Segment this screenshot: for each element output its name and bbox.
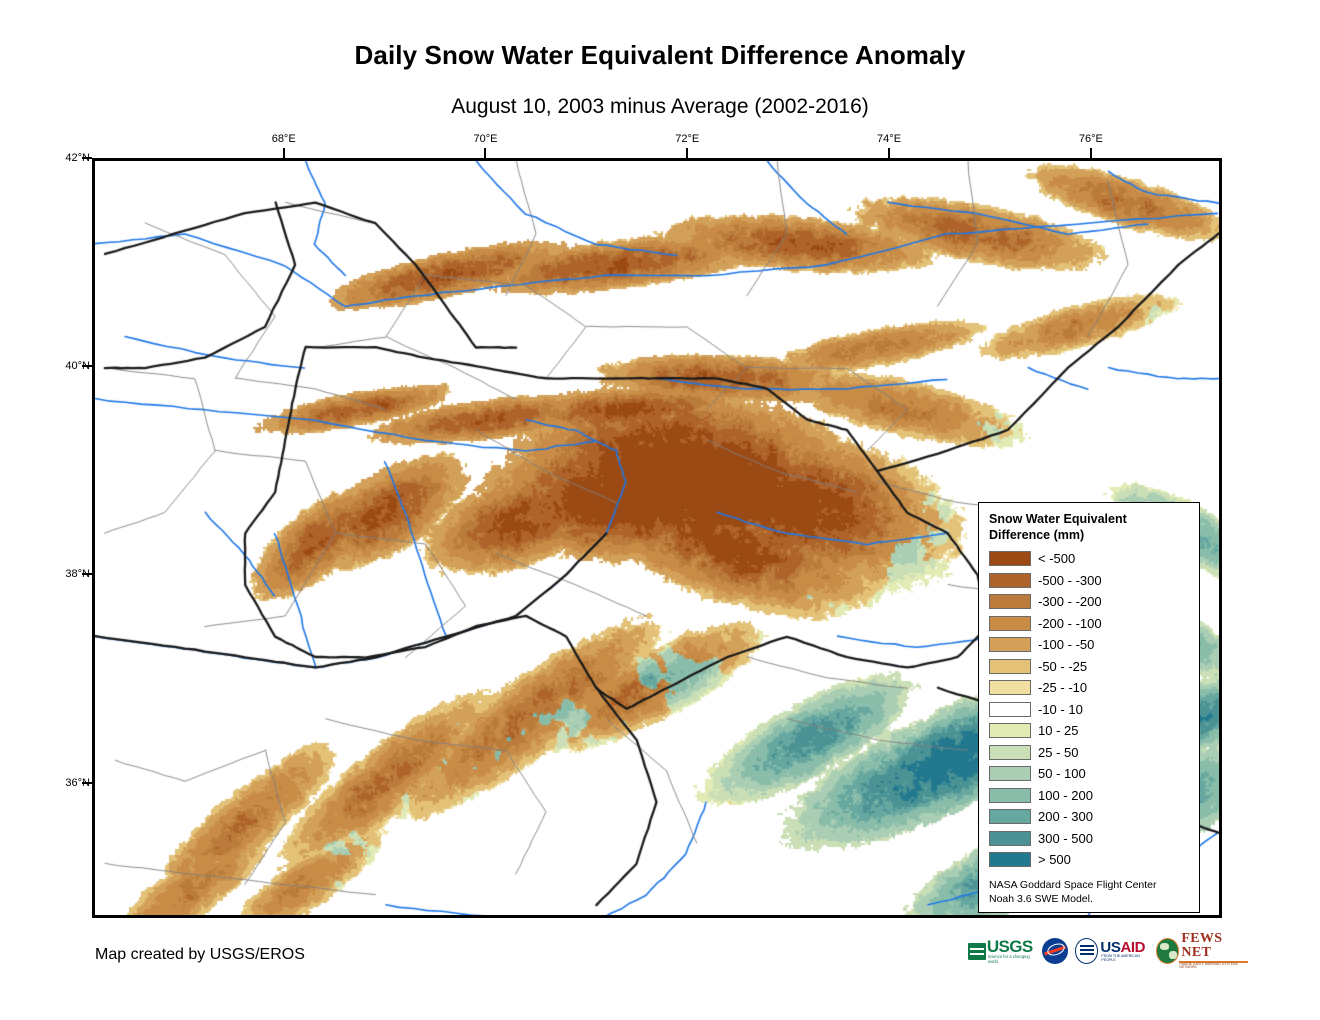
- map-credit: Map created by USGS/EROS: [95, 946, 305, 964]
- legend-row: 10 - 25: [989, 720, 1191, 742]
- legend-swatch: [989, 680, 1031, 695]
- legend-attribution-line2: Noah 3.6 SWE Model.: [989, 892, 1191, 906]
- legend-label: -200 - -100: [1038, 617, 1102, 630]
- usgs-wave-icon: [968, 943, 986, 960]
- legend-label: -10 - 10: [1038, 703, 1083, 716]
- legend-class-list: < -500-500 - -300-300 - -200-200 - -100-…: [989, 548, 1191, 871]
- lon-label: 68°E: [272, 133, 296, 145]
- usgs-wordmark: USGS: [987, 938, 1035, 955]
- legend-row: -25 - -10: [989, 677, 1191, 699]
- legend-title-line1: Snow Water Equivalent: [989, 511, 1191, 527]
- lon-label: 70°E: [473, 133, 497, 145]
- usaid-tagline: FROM THE AMERICAN PEOPLE: [1101, 955, 1149, 962]
- legend-swatch: [989, 852, 1031, 867]
- lat-label: 40°N: [56, 360, 90, 372]
- lat-label: 42°N: [56, 152, 90, 164]
- legend-row: -300 - -200: [989, 591, 1191, 613]
- legend-label: 10 - 25: [1038, 724, 1078, 737]
- legend-row: -500 - -300: [989, 570, 1191, 592]
- map-legend: Snow Water Equivalent Difference (mm) < …: [978, 502, 1200, 913]
- legend-attribution-line1: NASA Goddard Space Flight Center: [989, 878, 1191, 892]
- legend-swatch: [989, 637, 1031, 652]
- legend-label: 50 - 100: [1038, 767, 1086, 780]
- lon-tick: [283, 148, 285, 158]
- lon-label: 72°E: [675, 133, 699, 145]
- legend-swatch: [989, 573, 1031, 588]
- legend-swatch: [989, 745, 1031, 760]
- usaid-logo: USAID FROM THE AMERICAN PEOPLE: [1075, 935, 1149, 967]
- legend-row: -50 - -25: [989, 656, 1191, 678]
- legend-label: 300 - 500: [1038, 832, 1093, 845]
- page-subtitle: August 10, 2003 minus Average (2002-2016…: [0, 95, 1320, 119]
- legend-swatch: [989, 659, 1031, 674]
- legend-label: 25 - 50: [1038, 746, 1078, 759]
- usgs-tagline: science for a changing world: [988, 955, 1035, 963]
- legend-row: > 500: [989, 849, 1191, 871]
- lat-label: 38°N: [56, 568, 90, 580]
- legend-row: 200 - 300: [989, 806, 1191, 828]
- legend-swatch: [989, 766, 1031, 781]
- legend-title-line2: Difference (mm): [989, 527, 1191, 543]
- legend-swatch: [989, 723, 1031, 738]
- fews-tagline: FAMINE EARLY WARNING SYSTEMS NETWORK: [1179, 963, 1248, 970]
- legend-swatch: [989, 551, 1031, 566]
- legend-label: < -500: [1038, 552, 1075, 565]
- nasa-logo: [1042, 935, 1068, 967]
- agency-logos: USGS science for a changing world USAID …: [968, 932, 1248, 970]
- lon-label: 74°E: [877, 133, 901, 145]
- legend-row: 100 - 200: [989, 785, 1191, 807]
- usgs-logo: USGS science for a changing world: [968, 935, 1035, 967]
- lon-tick: [1090, 148, 1092, 158]
- usaid-wordmark: USAID: [1100, 940, 1149, 955]
- fews-logo: FEWS NET FAMINE EARLY WARNING SYSTEMS NE…: [1156, 935, 1248, 967]
- legend-label: > 500: [1038, 853, 1071, 866]
- nasa-meatball-icon: [1042, 938, 1068, 964]
- legend-label: -50 - -25: [1038, 660, 1087, 673]
- lon-tick: [888, 148, 890, 158]
- legend-row: 300 - 500: [989, 828, 1191, 850]
- legend-label: -25 - -10: [1038, 681, 1087, 694]
- lon-tick: [686, 148, 688, 158]
- fews-globe-icon: [1156, 938, 1179, 964]
- legend-row: -100 - -50: [989, 634, 1191, 656]
- legend-row: -10 - 10: [989, 699, 1191, 721]
- page-title: Daily Snow Water Equivalent Difference A…: [0, 40, 1320, 71]
- legend-swatch: [989, 702, 1031, 717]
- usaid-seal-icon: [1075, 938, 1098, 964]
- legend-row: -200 - -100: [989, 613, 1191, 635]
- legend-row: 50 - 100: [989, 763, 1191, 785]
- legend-swatch: [989, 831, 1031, 846]
- legend-swatch: [989, 594, 1031, 609]
- legend-attribution: NASA Goddard Space Flight Center Noah 3.…: [989, 878, 1191, 906]
- lon-label: 76°E: [1079, 133, 1103, 145]
- legend-swatch: [989, 616, 1031, 631]
- lon-tick: [484, 148, 486, 158]
- legend-label: 100 - 200: [1038, 789, 1093, 802]
- fews-wordmark: FEWS NET: [1181, 932, 1248, 960]
- legend-swatch: [989, 809, 1031, 824]
- legend-label: 200 - 300: [1038, 810, 1093, 823]
- legend-label: -300 - -200: [1038, 595, 1102, 608]
- legend-label: -100 - -50: [1038, 638, 1094, 651]
- legend-title: Snow Water Equivalent Difference (mm): [989, 511, 1191, 543]
- legend-row: < -500: [989, 548, 1191, 570]
- lat-label: 36°N: [56, 777, 90, 789]
- legend-label: -500 - -300: [1038, 574, 1102, 587]
- legend-row: 25 - 50: [989, 742, 1191, 764]
- legend-swatch: [989, 788, 1031, 803]
